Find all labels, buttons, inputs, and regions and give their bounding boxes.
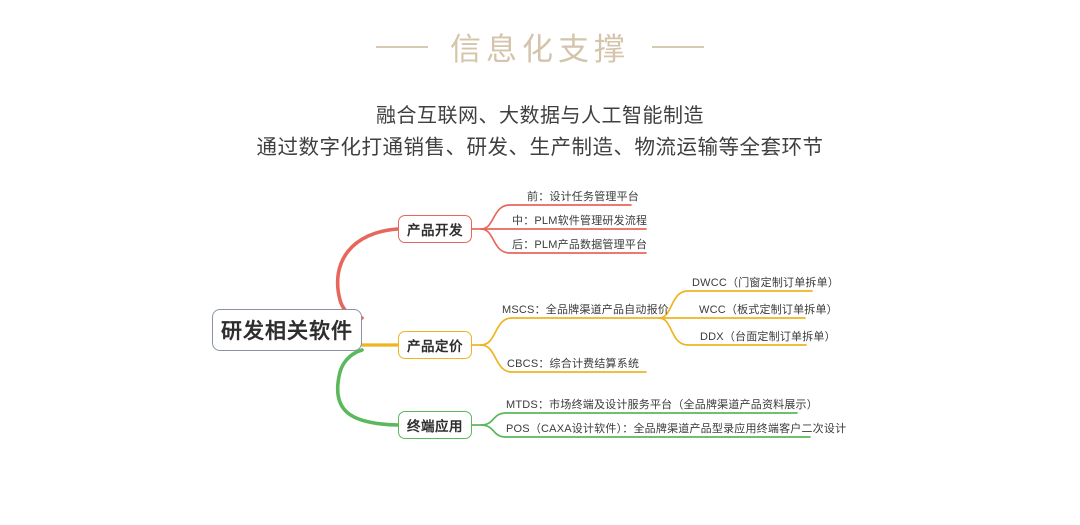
mindmap-branch-product-development[interactable]: 产品开发 xyxy=(398,215,472,243)
mindmap-diagram: 研发相关软件 产品开发 产品定价 终端应用 前：设计任务管理平台 中：PLM软件… xyxy=(0,0,1080,525)
mindmap-root-label: 研发相关软件 xyxy=(221,315,353,345)
mindmap-subleaf-yellow-0[interactable]: DWCC（门窗定制订单拆单） xyxy=(692,276,839,290)
mindmap-leaf-yellow-0[interactable]: MSCS：全品牌渠道产品自动报价 xyxy=(502,303,669,317)
mindmap-branch-product-pricing[interactable]: 产品定价 xyxy=(398,331,472,359)
mindmap-branch-label: 产品定价 xyxy=(407,335,463,355)
connector-leaf-yellow-0 xyxy=(481,318,651,345)
mindmap-subleaf-yellow-1[interactable]: WCC（板式定制订单拆单） xyxy=(699,303,838,317)
mindmap-branch-terminal-application[interactable]: 终端应用 xyxy=(398,411,472,439)
connector-root-to-terminal-application xyxy=(338,350,398,425)
mindmap-leaf-red-1[interactable]: 中：PLM软件管理研发流程 xyxy=(512,214,647,228)
mindmap-subleaf-yellow-2[interactable]: DDX（台面定制订单拆单） xyxy=(700,330,836,344)
mindmap-connectors xyxy=(0,0,1080,525)
mindmap-leaf-green-0[interactable]: MTDS：市场终端及设计服务平台（全品牌渠道产品资料展示） xyxy=(506,398,818,412)
mindmap-branch-label: 产品开发 xyxy=(407,219,463,239)
mindmap-leaf-green-1[interactable]: POS（CAXA设计软件）：全品牌渠道产品型录应用终端客户二次设计 xyxy=(506,422,846,436)
mindmap-leaf-red-0[interactable]: 前：设计任务管理平台 xyxy=(527,190,639,204)
mindmap-leaf-yellow-1[interactable]: CBCS：综合计费结算系统 xyxy=(507,357,639,371)
mindmap-leaf-red-2[interactable]: 后：PLM产品数据管理平台 xyxy=(512,238,647,252)
mindmap-root-node[interactable]: 研发相关软件 xyxy=(212,309,362,351)
connector-root-to-product-development xyxy=(338,229,398,318)
mindmap-branch-label: 终端应用 xyxy=(407,415,463,435)
